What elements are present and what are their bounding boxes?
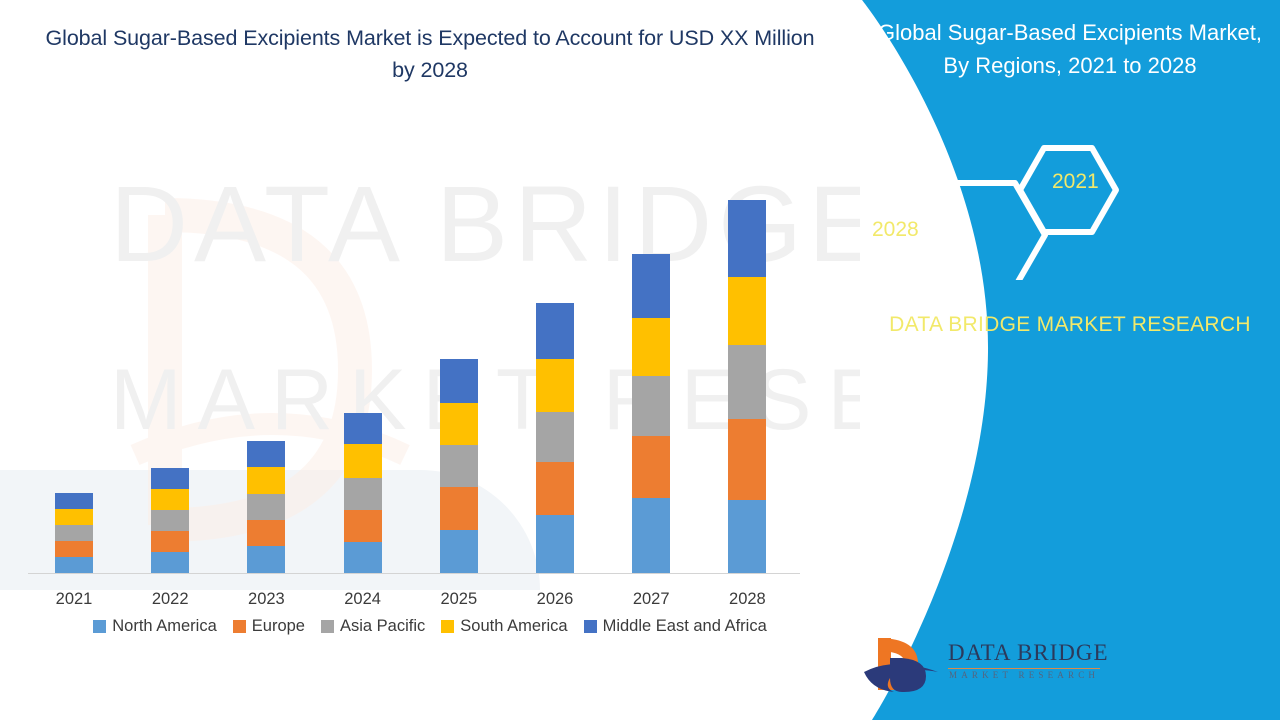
bar-segment [440, 445, 478, 487]
bar-segment [632, 318, 670, 376]
bar-column-2024[interactable] [344, 413, 382, 573]
bar-segment [536, 303, 574, 359]
legend-swatch-icon [233, 620, 246, 633]
legend-item-asia-pacific[interactable]: Asia Pacific [321, 617, 425, 636]
bar-segment [728, 419, 766, 500]
bar-column-2027[interactable] [632, 254, 670, 573]
x-axis-label-2024: 2024 [318, 590, 408, 609]
bar-segment [344, 478, 382, 510]
bar-segment [55, 541, 93, 557]
bar-segment [728, 277, 766, 345]
bar-column-2023[interactable] [247, 441, 285, 573]
legend-label: Middle East and Africa [603, 617, 767, 636]
legend-label: Asia Pacific [340, 617, 425, 636]
bar-segment [536, 359, 574, 412]
hexagon-2028-label: 2028 [872, 218, 919, 242]
bar-segment [632, 254, 670, 318]
x-axis-label-2022: 2022 [125, 590, 215, 609]
logo-divider [948, 668, 1100, 669]
bar-segment [728, 200, 766, 277]
infographic-slide: DATA BRIDGE MARKET RESEARCH Global Sugar… [0, 0, 1280, 720]
bar-segment [632, 498, 670, 573]
bar-segment [247, 467, 285, 494]
stacked-bar-chart: 20212022202320242025202620272028 [0, 0, 860, 720]
bar-segment [55, 493, 93, 509]
x-axis-line [28, 573, 800, 574]
bar-column-2021[interactable] [55, 493, 93, 573]
x-axis-label-2026: 2026 [510, 590, 600, 609]
bar-segment [151, 489, 189, 510]
bar-segment [55, 509, 93, 525]
bar-segment [247, 546, 285, 573]
bar-segment [344, 413, 382, 444]
bar-segment [151, 468, 189, 489]
x-axis-label-2028: 2028 [702, 590, 792, 609]
x-axis-label-2027: 2027 [606, 590, 696, 609]
bar-segment [151, 531, 189, 552]
brand-title: DATA BRIDGE MARKET RESEARCH [870, 308, 1270, 341]
bar-segment [151, 510, 189, 531]
legend-item-middle-east-and-africa[interactable]: Middle East and Africa [584, 617, 767, 636]
bar-segment [55, 525, 93, 541]
bar-segment [632, 436, 670, 498]
bar-column-2026[interactable] [536, 303, 574, 573]
logo-main-text: DATA BRIDGE [948, 640, 1109, 666]
legend-swatch-icon [441, 620, 454, 633]
data-bridge-mark-icon [860, 632, 946, 698]
blue-curved-background [840, 0, 1280, 720]
bar-segment [247, 494, 285, 520]
panel-title: Global Sugar-Based Excipients Market, By… [870, 16, 1270, 82]
x-axis-label-2021: 2021 [29, 590, 119, 609]
bar-segment [247, 520, 285, 546]
bar-segment [536, 462, 574, 515]
bar-segment [55, 557, 93, 573]
hexagon-badges [895, 140, 1125, 280]
bar-column-2028[interactable] [728, 200, 766, 573]
bar-segment [632, 376, 670, 436]
bar-segment [728, 500, 766, 573]
hexagon-2021-label: 2021 [1052, 170, 1099, 194]
legend-swatch-icon [321, 620, 334, 633]
bar-segment [440, 359, 478, 403]
legend-item-europe[interactable]: Europe [233, 617, 305, 636]
bar-segment [440, 487, 478, 530]
bar-segment [440, 403, 478, 445]
company-logo: DATA BRIDGE MARKET RESEARCH [860, 632, 1090, 702]
bar-segment [536, 412, 574, 462]
legend-label: North America [112, 617, 217, 636]
bar-column-2025[interactable] [440, 359, 478, 573]
logo-sub-text: MARKET RESEARCH [949, 670, 1099, 680]
chart-legend: North AmericaEuropeAsia PacificSouth Ame… [0, 617, 860, 636]
chart-panel: DATA BRIDGE MARKET RESEARCH Global Sugar… [0, 0, 860, 720]
brand-panel: Global Sugar-Based Excipients Market, By… [840, 0, 1280, 720]
bar-segment [440, 530, 478, 573]
bar-segment [344, 542, 382, 573]
legend-label: Europe [252, 617, 305, 636]
legend-item-south-america[interactable]: South America [441, 617, 567, 636]
bar-segment [728, 345, 766, 419]
bar-segment [247, 441, 285, 467]
legend-label: South America [460, 617, 567, 636]
x-axis-label-2025: 2025 [414, 590, 504, 609]
x-axis-label-2023: 2023 [221, 590, 311, 609]
bar-column-2022[interactable] [151, 468, 189, 573]
bar-segment [536, 515, 574, 573]
legend-swatch-icon [93, 620, 106, 633]
legend-item-north-america[interactable]: North America [93, 617, 217, 636]
legend-swatch-icon [584, 620, 597, 633]
bar-segment [344, 444, 382, 478]
bar-segment [151, 552, 189, 573]
bar-segment [344, 510, 382, 542]
